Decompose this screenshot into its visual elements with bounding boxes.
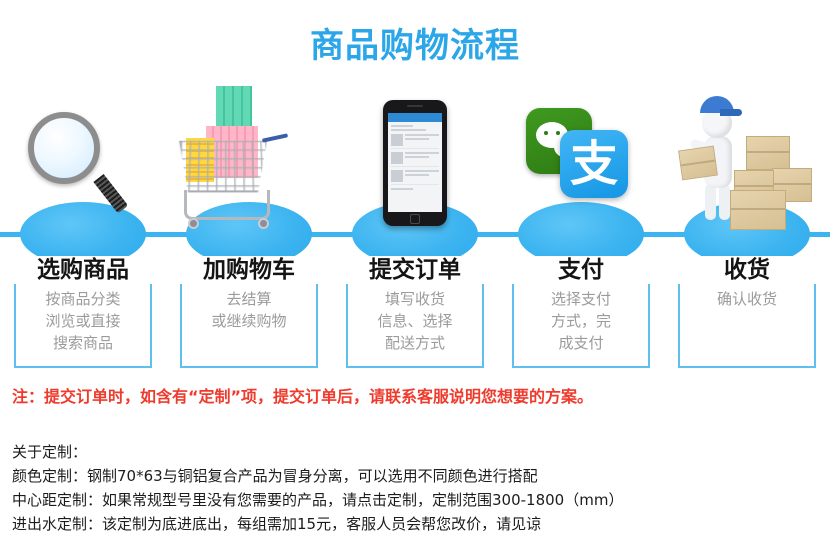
smartphone-icon [383, 100, 447, 226]
phone-product-thumb [391, 134, 403, 146]
phone-order-list [388, 122, 442, 190]
step-label-submit-order: 提交订单 填写收货 信息、选择 配送方式 [332, 256, 498, 372]
wechat-eye [556, 131, 560, 135]
phone-row-text [405, 152, 439, 164]
step-label-add-to-cart: 加购物车 去结算 或继续购物 [166, 256, 332, 372]
phone-text-line [391, 129, 426, 131]
phone-order-row [391, 134, 439, 149]
phone-home-button-icon [410, 214, 420, 224]
mobile-phone-order-icon [332, 78, 498, 268]
step-description: 填写收货 信息、选择 配送方式 [346, 288, 484, 354]
step-labels: 选购商品 按商品分类 浏览或直接 搜索商品 加购物车 去结算 或继续购物 提交订… [0, 256, 830, 372]
step-label-payment: 支付 选择支付 方式，完 成支付 [498, 256, 664, 372]
delivery-man-leg [705, 184, 716, 220]
delivery-man-leg [719, 184, 730, 220]
phone-order-row [391, 152, 439, 167]
cardboard-box-icon [730, 190, 786, 230]
magnifier-handle-icon [93, 174, 128, 214]
magnifier-icon [0, 78, 166, 268]
customization-heading: 关于定制： [12, 440, 824, 464]
cart-frame-icon [184, 190, 270, 220]
step-title: 提交订单 [332, 256, 498, 284]
step-title: 支付 [498, 256, 664, 284]
phone-text-line [405, 156, 429, 158]
step-title: 选购商品 [0, 256, 166, 284]
shopping-cart-icon [166, 78, 332, 268]
step-description: 确认收货 [678, 288, 816, 310]
phone-text-line [405, 170, 439, 172]
step-description: 去结算 或继续购物 [180, 288, 318, 332]
phone-row-text [405, 170, 439, 182]
step-description: 选择支付 方式，完 成支付 [512, 288, 650, 354]
phone-text-line [405, 152, 439, 154]
phone-speaker-icon [407, 105, 423, 107]
customization-info: 关于定制： 颜色定制：钢制70*63与铜铝复合产品为冒身分离，可以选用不同颜色进… [12, 440, 824, 536]
customization-line-center-distance: 中心距定制：如果常规型号里没有您需要的产品，请点击定制，定制范围300-1800… [12, 488, 824, 512]
wechat-eye [544, 131, 548, 135]
cart-basket-icon [177, 141, 269, 193]
cardboard-box-icon [746, 136, 790, 170]
phone-text-line [391, 125, 413, 127]
magnifier-lens-icon [28, 112, 100, 184]
delivery-man-boxes-icon [664, 78, 830, 268]
step-label-select-product: 选购商品 按商品分类 浏览或直接 搜索商品 [0, 256, 166, 372]
phone-screen [388, 113, 442, 212]
phone-product-thumb [391, 152, 403, 164]
cart-handle-icon [262, 133, 288, 142]
phone-product-thumb [391, 170, 403, 182]
phone-order-row [391, 170, 439, 185]
customization-line-water-inlet: 进出水定制：该定制为底进底出，每组需加15元，客服人员会帮您改价，请见谅 [12, 512, 824, 536]
payment-apps-icon: 支 [498, 78, 664, 268]
order-notice-text: 注：提交订单时，如含有“定制”项，提交订单后，请联系客服说明您想要的方案。 [12, 385, 822, 409]
step-title: 加购物车 [166, 256, 332, 284]
step-description: 按商品分类 浏览或直接 搜索商品 [14, 288, 152, 354]
customization-line-color: 颜色定制：钢制70*63与铜铝复合产品为冒身分离，可以选用不同颜色进行搭配 [12, 464, 824, 488]
phone-app-header-bar [388, 113, 442, 122]
label-bracket [678, 270, 816, 368]
page-title: 商品购物流程 [0, 24, 830, 68]
phone-text-line [391, 188, 413, 190]
delivery-man-cap-brim [720, 109, 742, 116]
phone-row-text [405, 134, 439, 146]
phone-text-line [405, 138, 429, 140]
step-label-receive-goods: 收货 确认收货 [664, 256, 830, 372]
cardboard-box-held-icon [678, 146, 718, 181]
shopping-flow-infographic: 商品购物流程 [0, 0, 830, 558]
step-title: 收货 [664, 256, 830, 284]
cart-wheel-icon [258, 218, 269, 229]
alipay-icon: 支 [560, 130, 628, 198]
phone-text-line [405, 174, 429, 176]
cart-wheel-icon [188, 218, 199, 229]
phone-text-line [405, 134, 439, 136]
